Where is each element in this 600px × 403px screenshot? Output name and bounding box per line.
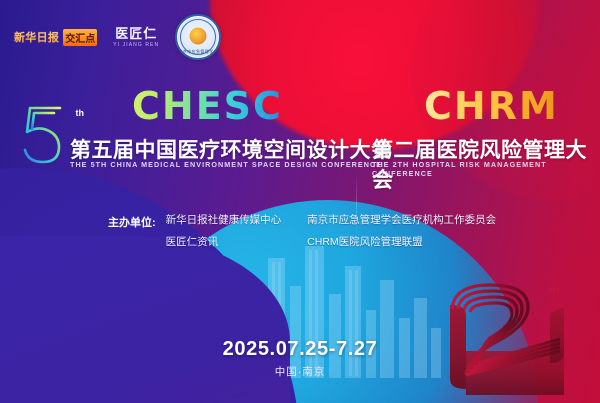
- xinhua-logo-text: 新华日报: [14, 29, 59, 45]
- organizers-label: 主办单位:: [108, 212, 156, 251]
- seal-core-emblem: [190, 28, 207, 45]
- numeral-5-glyph: [14, 102, 72, 168]
- yijiangren-logo-cn: 医匠仁: [113, 27, 159, 40]
- yijiangren-logo: 医匠仁 YI JIANG REN: [113, 27, 159, 48]
- chrm-acronym: CHRM: [424, 84, 559, 128]
- organizer-item: CHRM医院风险管理联盟: [307, 234, 496, 251]
- chesc-acronym: CHESC: [132, 84, 283, 128]
- organizers-columns: 新华日报社健康传媒中心 医匠仁资讯 南京市应急管理学会医疗机构工作委员会 CHR…: [166, 212, 497, 251]
- conference-poster: th 新华日报 交汇点 医匠仁 YI JIANG REN 南京市应急管理学会: [0, 0, 600, 403]
- organizers-section: 主办单位: 新华日报社健康传媒中心 医匠仁资讯 南京市应急管理学会医疗机构工作委…: [108, 212, 496, 251]
- organizer-item: 医匠仁资讯: [166, 234, 282, 251]
- svg-text:th: th: [548, 285, 560, 296]
- association-seal-icon: 南京市应急管理学会: [175, 14, 221, 60]
- edition-suffix-th: th: [76, 108, 85, 118]
- seal-arc-text: 南京市应急管理学会: [177, 49, 219, 55]
- organizer-item: 新华日报社健康传媒中心: [166, 212, 282, 229]
- sponsor-logo-bar: 新华日报 交汇点 医匠仁 YI JIANG REN 南京市应急管理学会: [14, 14, 221, 60]
- xinhua-daily-logo: 新华日报 交汇点: [14, 29, 97, 46]
- chrm-english-title: THE 2TH HOSPITAL RISK MANAGEMENT CONFERE…: [372, 160, 600, 178]
- organizer-item: 南京市应急管理学会医疗机构工作委员会: [307, 212, 496, 229]
- ribbon-numeral-2-decoration: th: [432, 267, 582, 399]
- event-location: 中国·南京: [0, 364, 600, 379]
- event-date: 2025.07.25-7.27: [0, 338, 600, 361]
- organizers-column-one: 新华日报社健康传媒中心 医匠仁资讯: [166, 212, 282, 251]
- xinhua-logo-badge: 交汇点: [63, 29, 97, 46]
- chesc-english-title: THE 5TH CHINA MEDICAL ENVIRONMENT SPACE …: [70, 160, 382, 169]
- organizers-column-two: 南京市应急管理学会医疗机构工作委员会 CHRM医院风险管理联盟: [307, 212, 496, 251]
- edition-numeral-5: th: [14, 102, 72, 168]
- yijiangren-logo-en: YI JIANG REN: [113, 43, 159, 48]
